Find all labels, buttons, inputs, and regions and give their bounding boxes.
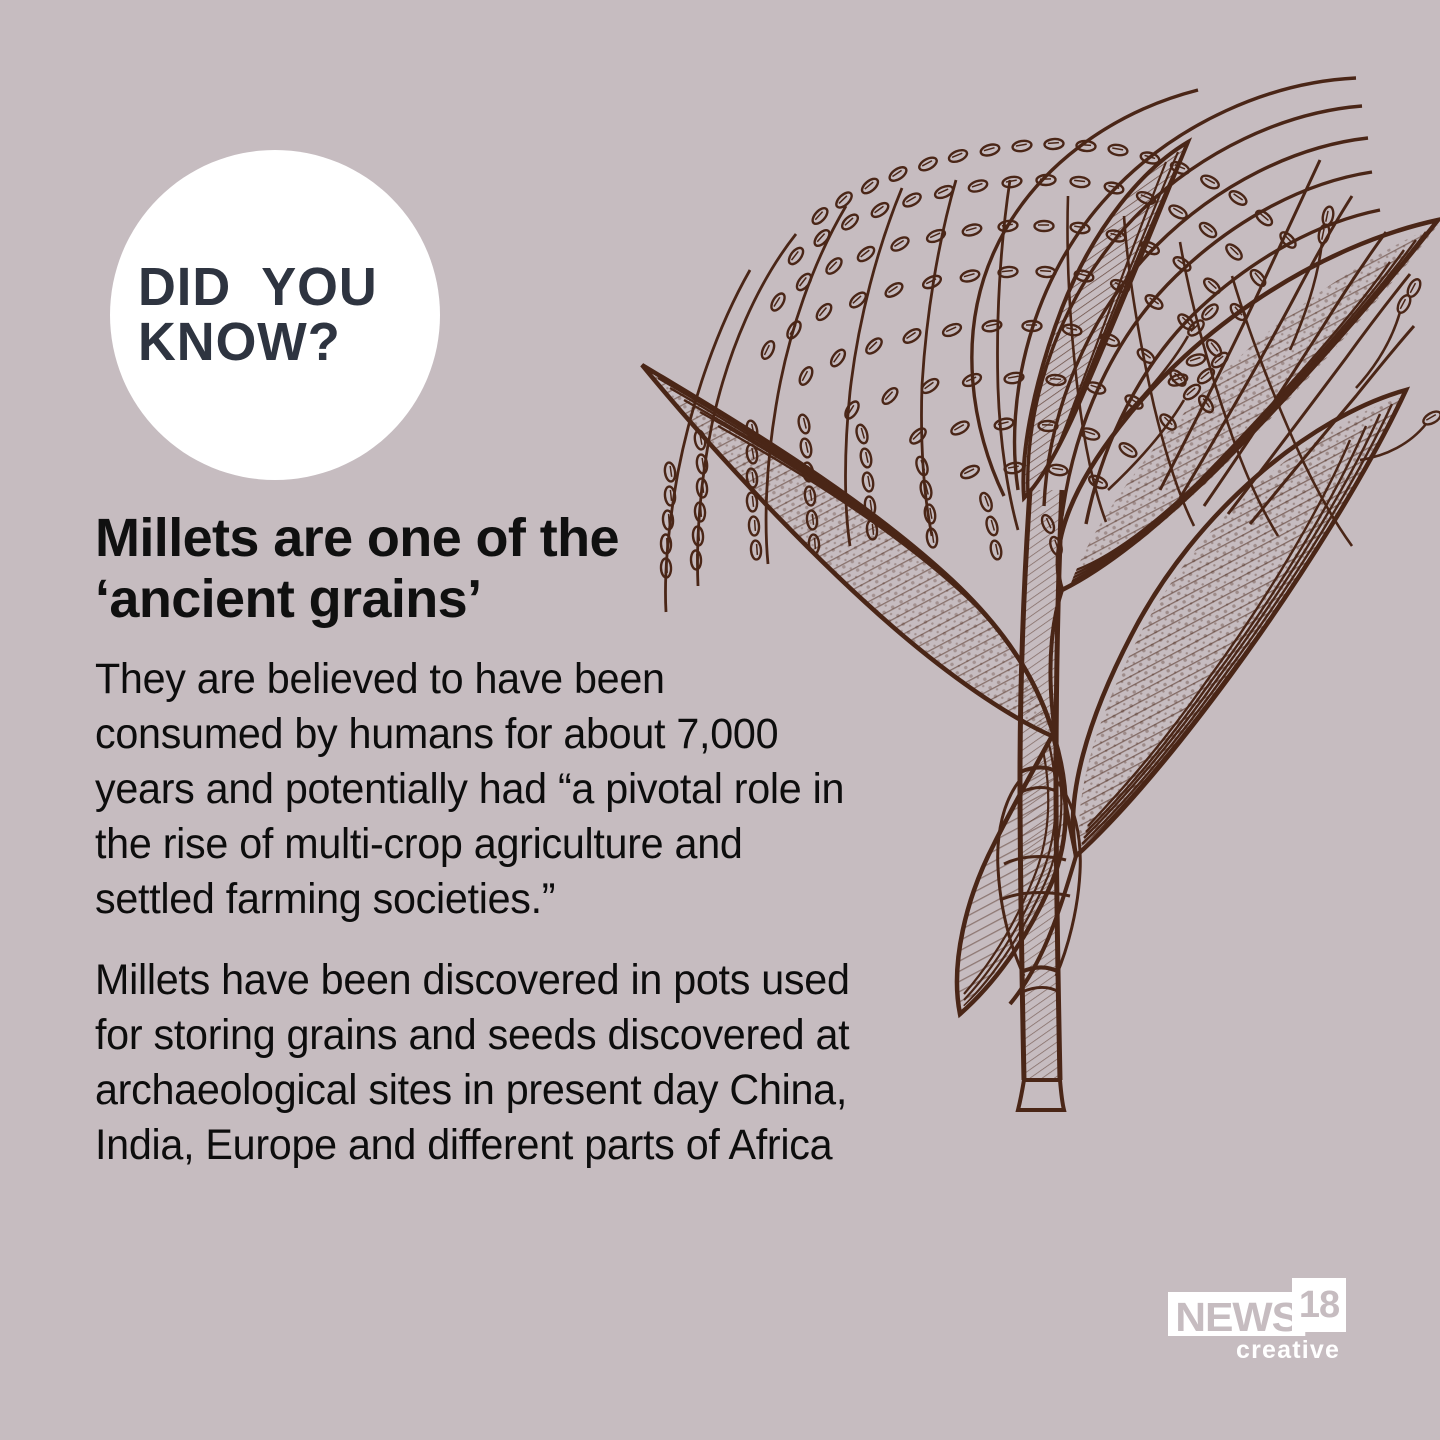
- main-stem: [1018, 490, 1064, 1110]
- news18-creative-logo: NEWS 18 creative: [1168, 1278, 1368, 1374]
- body-paragraph-1: They are believed to have been consumed …: [95, 652, 863, 927]
- logo-creative-tagline: creative: [1236, 1336, 1340, 1364]
- page-title: Millets are one of the ‘ancient grains’: [95, 508, 715, 630]
- leaf-center: [1000, 120, 1220, 520]
- logo-news-wordmark: NEWS: [1168, 1292, 1305, 1336]
- side-spikelets: [1108, 206, 1440, 490]
- grain-cluster-top: [759, 138, 1298, 490]
- text-column: Millets are one of the ‘ancient grains’ …: [95, 508, 905, 1173]
- badge-line-1: DID YOU: [138, 260, 378, 315]
- badge-line-2: KNOW?: [138, 315, 341, 370]
- leaf-sheath: [998, 780, 1081, 976]
- leaf-right-lower: [1010, 370, 1440, 1004]
- did-you-know-badge: DID YOU KNOW?: [110, 150, 440, 480]
- leaf-right-upper: [1040, 200, 1440, 620]
- logo-18-badge: 18: [1292, 1278, 1346, 1332]
- body-paragraph-2: Millets have been discovered in pots use…: [95, 953, 873, 1173]
- logo-wordmark-row: NEWS 18: [1168, 1278, 1368, 1336]
- infographic-canvas: DID YOU KNOW? Millets are one of the ‘an…: [0, 0, 1440, 1440]
